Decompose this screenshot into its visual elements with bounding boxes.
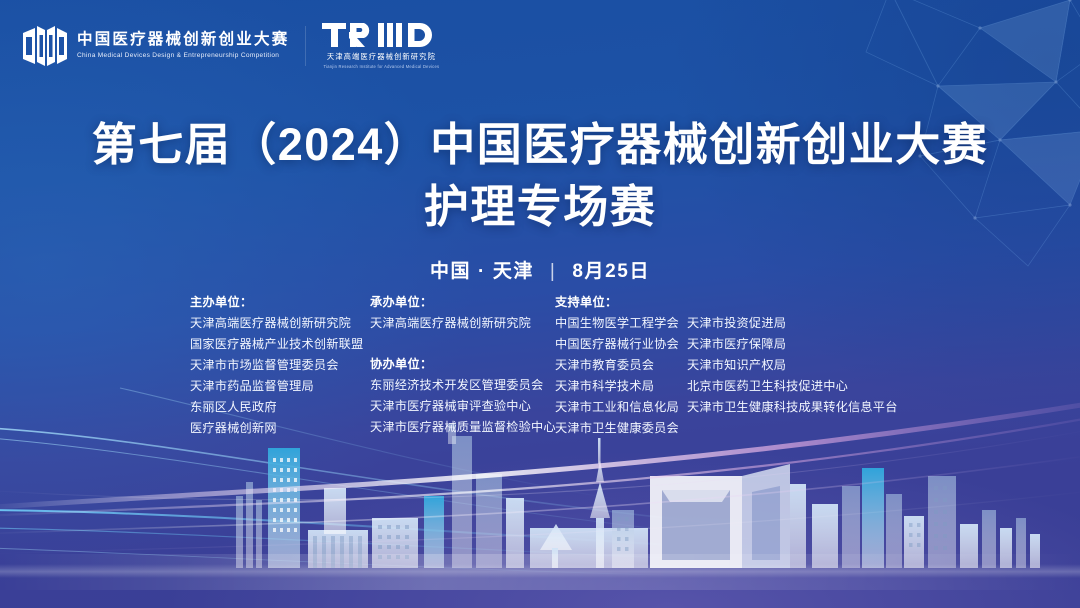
credits-spacer (370, 334, 555, 354)
poster-canvas: 中国医疗器械创新创业大赛 China Medical Devices Desig… (0, 0, 1080, 608)
list-item: 天津市医疗保障局 (687, 334, 897, 355)
list-item: 天津高端医疗器械创新研究院 (190, 313, 370, 334)
list-item: 东丽区人民政府 (190, 397, 370, 418)
list-item: 中国生物医学工程学会 (555, 313, 687, 334)
subtitle-separator: | (550, 261, 557, 283)
list-item: 天津高端医疗器械创新研究院 (370, 313, 555, 334)
title-line-2: 护理专场赛 (0, 178, 1080, 236)
list-item: 天津市卫生健康委员会 (555, 418, 687, 439)
list-item: 东丽经济技术开发区管理委员会 (370, 375, 555, 396)
list-item: 天津市药品监督管理局 (190, 376, 370, 397)
list-item: 天津市医疗器械质量监督检验中心 (370, 417, 555, 438)
list-item: 天津市知识产权局 (687, 355, 897, 376)
credits-column-support-1: 支持单位： 中国生物医学工程学会 中国医疗器械行业协会 天津市教育委员会 天津市… (555, 292, 687, 439)
logo-divider (305, 26, 306, 66)
event-date: 8月25日 (572, 261, 650, 282)
title-line-1: 第七届（2024）中国医疗器械创新创业大赛 (0, 116, 1080, 174)
institute-logo: 天津高端医疗器械创新研究院 Tianjin Research Institute… (322, 22, 440, 69)
list-item: 中国医疗器械行业协会 (555, 334, 687, 355)
competition-name-cn: 中国医疗器械创新创业大赛 (77, 31, 289, 49)
institute-name-cn: 天津高端医疗器械创新研究院 (327, 52, 436, 62)
page-title: 第七届（2024）中国医疗器械创新创业大赛 护理专场赛 (0, 116, 1080, 236)
logo-bar: 中国医疗器械创新创业大赛 China Medical Devices Desig… (22, 22, 440, 69)
credits-block: 主办单位： 天津高端医疗器械创新研究院 国家医疗器械产业技术创新联盟 天津市市场… (190, 292, 897, 439)
list-item: 天津市科学技术局 (555, 376, 687, 397)
competition-logo-text: 中国医疗器械创新创业大赛 China Medical Devices Desig… (77, 31, 289, 59)
list-item: 天津市医疗器械审评查验中心 (370, 396, 555, 417)
open-door-book-icon (22, 25, 68, 67)
support-heading: 支持单位： (555, 292, 687, 313)
credits-column-organizers: 承办单位： 天津高端医疗器械创新研究院 协办单位： 东丽经济技术开发区管理委员会… (370, 292, 555, 438)
co-organizer-heading: 协办单位： (370, 354, 555, 375)
list-item: 医疗器械创新网 (190, 418, 370, 439)
list-item: 天津市市场监督管理委员会 (190, 355, 370, 376)
event-subtitle: 中国 · 天津 | 8月25日 (0, 256, 1080, 283)
list-item: 天津市卫生健康科技成果转化信息平台 (687, 397, 897, 418)
event-location: 中国 · 天津 (430, 261, 534, 282)
list-item: 天津市投资促进局 (687, 313, 897, 334)
competition-name-en: China Medical Devices Design & Entrepren… (77, 52, 294, 60)
sponsors-heading: 主办单位： (190, 292, 370, 313)
organizer-heading: 承办单位： (370, 292, 555, 313)
institute-name-en: Tianjin Research Institute for Advanced … (324, 64, 440, 69)
triid-wordmark-icon (322, 22, 440, 48)
credits-column-support-2: 天津市投资促进局 天津市医疗保障局 天津市知识产权局 北京市医药卫生科技促进中心… (687, 292, 897, 418)
list-item: 北京市医药卫生科技促进中心 (687, 376, 897, 397)
list-item: 国家医疗器械产业技术创新联盟 (190, 334, 370, 355)
competition-logo: 中国医疗器械创新创业大赛 China Medical Devices Desig… (22, 25, 289, 67)
list-item: 天津市工业和信息化局 (555, 397, 687, 418)
list-item: 天津市教育委员会 (555, 355, 687, 376)
credits-column-sponsors: 主办单位： 天津高端医疗器械创新研究院 国家医疗器械产业技术创新联盟 天津市市场… (190, 292, 370, 439)
